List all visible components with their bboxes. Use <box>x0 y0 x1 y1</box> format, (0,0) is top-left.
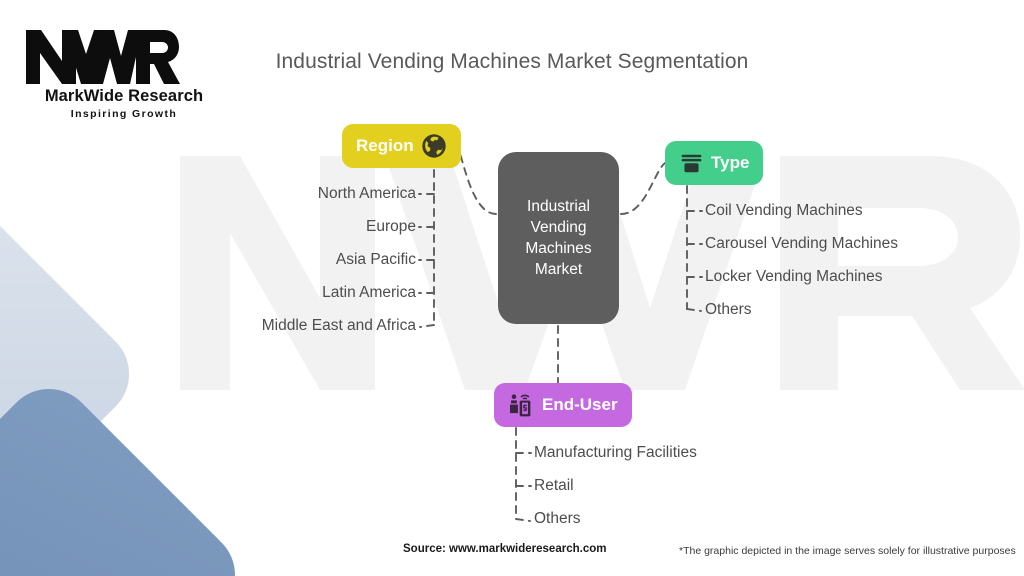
leaf-type-3: Others <box>705 301 752 319</box>
branch-label-enduser: End-User <box>542 395 618 415</box>
center-node-label: Industrial Vending Machines Market <box>498 196 619 281</box>
connector-center-type <box>621 162 667 214</box>
branch-badge-type[interactable]: Type <box>665 141 763 185</box>
archive-box-icon <box>679 151 704 176</box>
page-title: Industrial Vending Machines Market Segme… <box>0 50 1024 74</box>
decorative-square-light <box>0 162 148 576</box>
leaf-region-1: Europe <box>366 218 416 236</box>
leaf-region-4: Middle East and Africa <box>262 317 416 335</box>
leaf-region-0: North America <box>318 185 416 203</box>
leaf-enduser-2: Others <box>534 510 581 528</box>
leaf-type-1: Carousel Vending Machines <box>705 235 898 253</box>
brand-logo: MarkWide Research Inspiring Growth <box>24 28 224 120</box>
leaf-enduser-0: Manufacturing Facilities <box>534 444 697 462</box>
leaf-type-0: Coil Vending Machines <box>705 202 863 220</box>
connector-center-region <box>457 147 496 214</box>
infographic-canvas: MarkWide Research Inspiring Growth Indus… <box>0 0 1024 576</box>
branch-badge-region[interactable]: Region <box>342 124 461 168</box>
leaf-region-3: Latin America <box>322 284 416 302</box>
leaf-type-2: Locker Vending Machines <box>705 268 883 286</box>
disclaimer-note: *The graphic depicted in the image serve… <box>679 545 1016 557</box>
mobile-payment-user-icon <box>508 392 535 418</box>
leaf-region-2: Asia Pacific <box>336 251 416 269</box>
branch-label-type: Type <box>711 153 749 173</box>
branch-badge-enduser[interactable]: End-User <box>494 383 632 427</box>
leaf-enduser-1: Retail <box>534 477 574 495</box>
source-label: Source: www.markwideresearch.com <box>403 543 606 555</box>
decorative-square-dark <box>0 370 254 576</box>
connector-region-stub-4 <box>420 325 434 327</box>
brand-tagline: Inspiring Growth <box>24 108 224 120</box>
branch-label-region: Region <box>356 136 414 156</box>
brand-name: MarkWide Research <box>24 87 224 106</box>
globe-icon <box>421 133 447 159</box>
connector-enduser-stub-2 <box>516 519 530 521</box>
center-node[interactable]: Industrial Vending Machines Market <box>498 152 619 324</box>
connector-type-stub-3 <box>687 309 701 311</box>
